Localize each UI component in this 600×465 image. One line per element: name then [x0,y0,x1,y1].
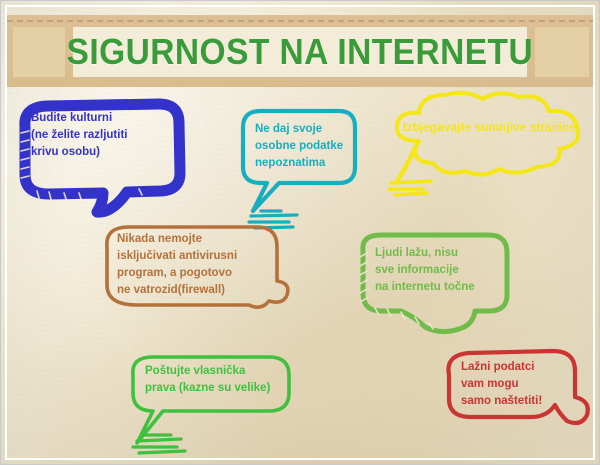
speech-bubble-antivirus: Nikada nemojte isključivati antivirusni … [101,219,301,331]
speech-bubble-text-people-lie: Ljudi lažu, nisu sve informacije na inte… [375,245,511,296]
speech-bubble-text-copyright: Poštujte vlasnička prava (kazne su velik… [145,363,301,397]
bubble-outline-yellow [397,93,578,181]
page-title: SIGURNOST NA INTERNETU [67,31,534,73]
header-right-panel [535,27,589,77]
speech-bubble-people-lie: Ljudi lažu, nisu sve informacije na inte… [355,229,521,345]
speech-bubble-false-data: Lažni podatci vam mogu samo naštetiti! [441,345,593,455]
speech-bubble-text-suspicious-sites: Izbjegavajte sumnjive stranice [403,119,593,136]
title-plate: SIGURNOST NA INTERNETU [73,27,527,77]
poster-canvas: SIGURNOST NA INTERNETU Budite kulturni (… [0,0,600,465]
speech-bubble-text-false-data: Lažni podatci vam mogu samo naštetiti! [461,359,581,410]
speech-bubble-copyright: Poštujte vlasnička prava (kazne su velik… [123,349,307,461]
speech-bubble-text-be-polite: Budite kulturni (ne želite razljutiti kr… [31,110,181,161]
header-dashed-line [7,20,595,22]
speech-bubble-text-personal-data: Ne daj svoje osobne podatke nepoznatima [255,121,361,172]
scribble-yellow [389,181,431,195]
speech-bubble-suspicious-sites: Izbjegavajte sumnjive stranice [387,89,595,201]
speech-bubble-be-polite: Budite kulturni (ne želite razljutiti kr… [9,97,189,215]
speech-bubble-text-antivirus: Nikada nemojte isključivati antivirusni … [117,231,287,299]
speech-bubble-personal-data: Ne daj svoje osobne podatke nepoznatima [235,105,365,235]
header-left-panel [13,27,65,77]
